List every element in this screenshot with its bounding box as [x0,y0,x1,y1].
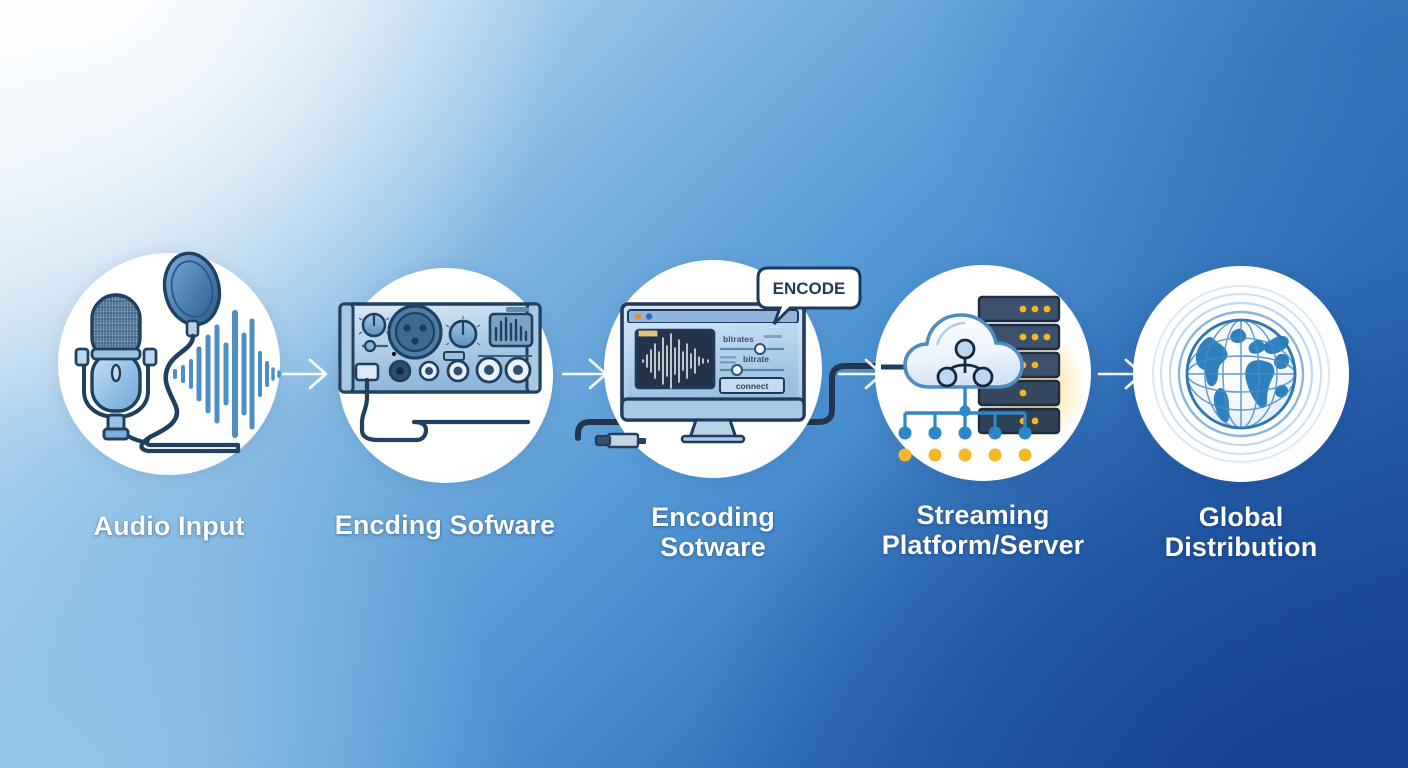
microphone-pop-filter-waveform-icon [62,249,294,481]
cloud-server-network-icon [881,279,1096,469]
slider-1-label: bitrates [723,334,754,344]
audio-interface-icon [332,294,560,464]
step-label: Encding Sofware [300,510,590,540]
step-label: StreamingPlatform/Server [830,500,1136,560]
infographic-canvas: Audio Input [0,0,1408,768]
step-label: Audio Input [28,511,310,541]
globe-broadcast-icon [1149,282,1333,466]
slider-2-label: bitrate [743,354,769,364]
usb-connector-icon [582,422,672,458]
step-label: EncodingSotware [564,502,862,562]
pop-filter [158,249,226,336]
step-label: GlobalDistribution [1095,502,1387,562]
encode-callout-text: ENCODE [773,279,846,298]
connect-button-label: connect [736,381,769,391]
encode-callout: ENCODE [754,264,864,331]
ribbon-microphone [76,295,156,439]
